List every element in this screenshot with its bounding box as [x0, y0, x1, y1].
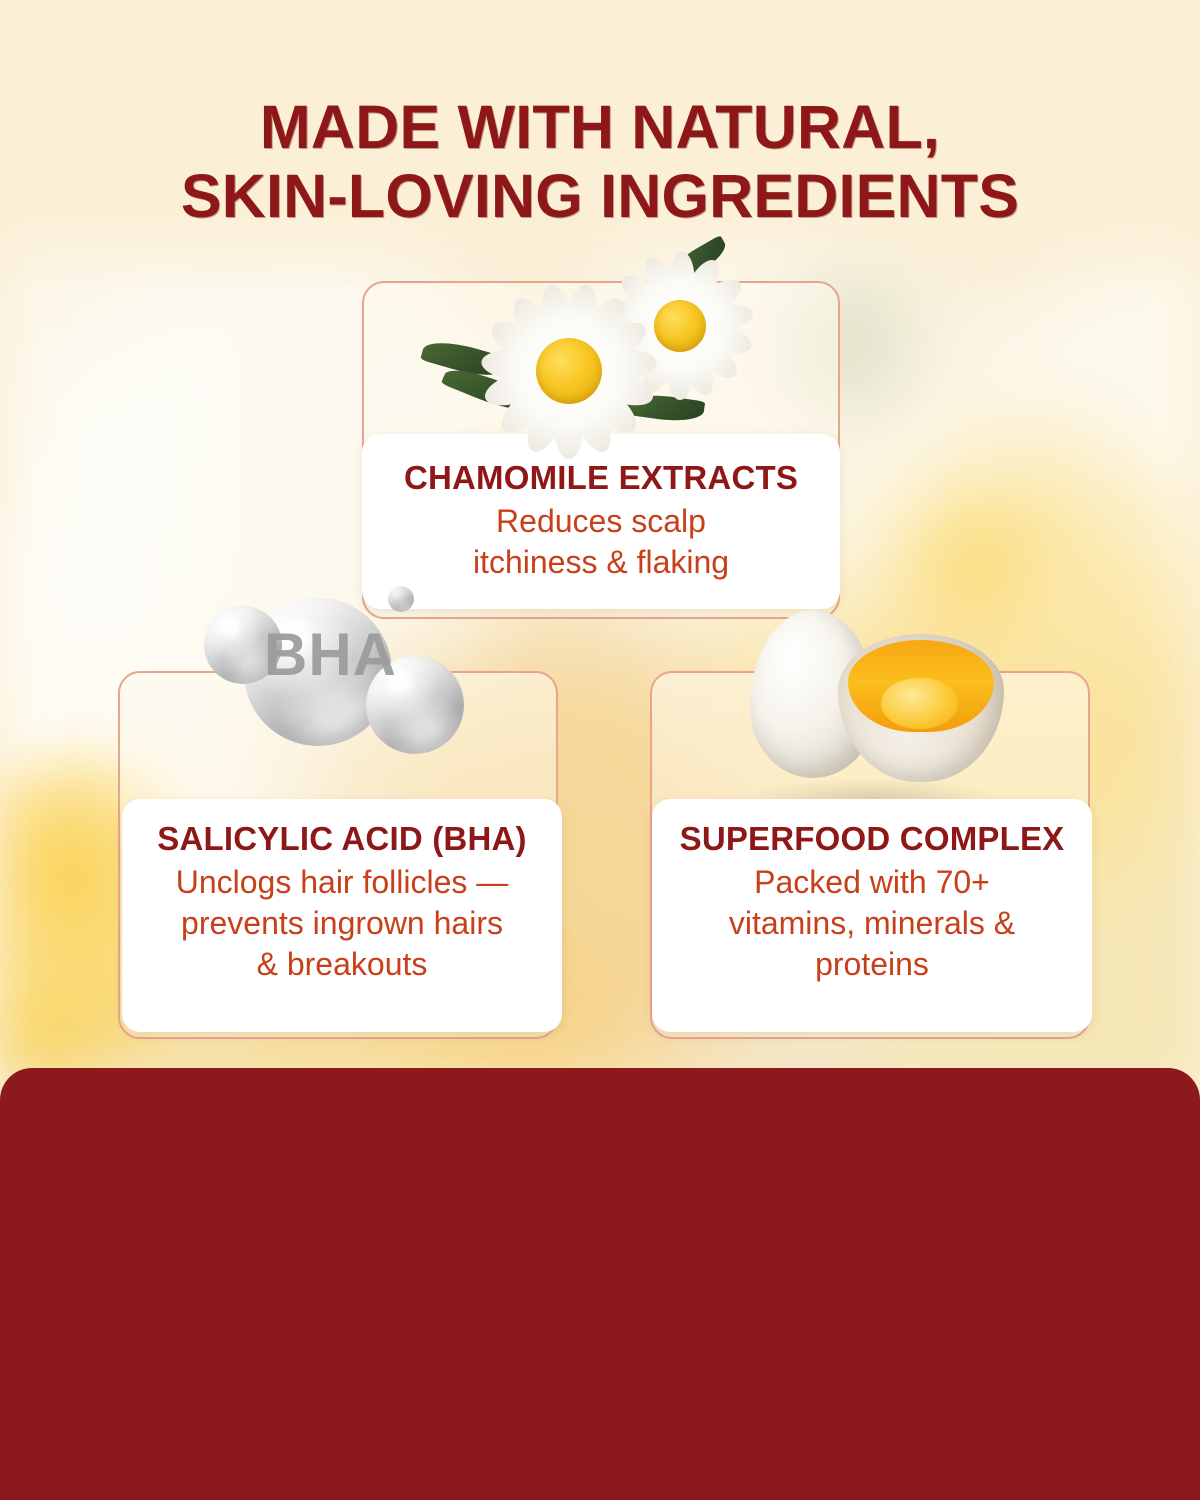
- ingredient-title: CHAMOMILE EXTRACTS: [362, 458, 840, 498]
- benefits-panel: ✓ TEA TREE OIL Fights skin impurities ✓ …: [0, 1068, 1200, 1500]
- ingredients-infographic: MADE WITH NATURAL, SKIN-LOVING INGREDIEN…: [0, 0, 1200, 1500]
- ingredient-desc-line: & breakouts: [134, 944, 550, 985]
- page-title: MADE WITH NATURAL, SKIN-LOVING INGREDIEN…: [0, 93, 1200, 231]
- ingredient-desc-line: Unclogs hair follicles —: [134, 862, 550, 903]
- ingredient-desc-line: Reduces scalp: [374, 501, 828, 542]
- ingredient-desc-line: vitamins, minerals &: [664, 903, 1080, 944]
- ingredient-textbox-superfood-complex: SUPERFOOD COMPLEX Packed with 70+ vitami…: [652, 799, 1092, 1032]
- ingredient-desc: Packed with 70+ vitamins, minerals & pro…: [652, 862, 1092, 985]
- ingredient-title: SUPERFOOD COMPLEX: [652, 819, 1092, 859]
- page-title-line-1: MADE WITH NATURAL,: [0, 93, 1200, 162]
- ingredient-desc: Reduces scalp itchiness & flaking: [362, 501, 840, 583]
- ingredient-textbox-chamomile: CHAMOMILE EXTRACTS Reduces scalp itchine…: [362, 434, 840, 609]
- ingredient-desc-line: proteins: [664, 944, 1080, 985]
- ingredient-desc: Unclogs hair follicles — prevents ingrow…: [122, 862, 562, 985]
- page-title-line-2: SKIN-LOVING INGREDIENTS: [0, 162, 1200, 231]
- ingredient-desc-line: prevents ingrown hairs: [134, 903, 550, 944]
- background-pollen-right: [876, 474, 1066, 644]
- ingredient-desc-line: Packed with 70+: [664, 862, 1080, 903]
- ingredient-textbox-salicylic-acid: SALICYLIC ACID (BHA) Unclogs hair follic…: [122, 799, 562, 1032]
- ingredient-desc-line: itchiness & flaking: [374, 542, 828, 583]
- ingredient-title: SALICYLIC ACID (BHA): [122, 819, 562, 859]
